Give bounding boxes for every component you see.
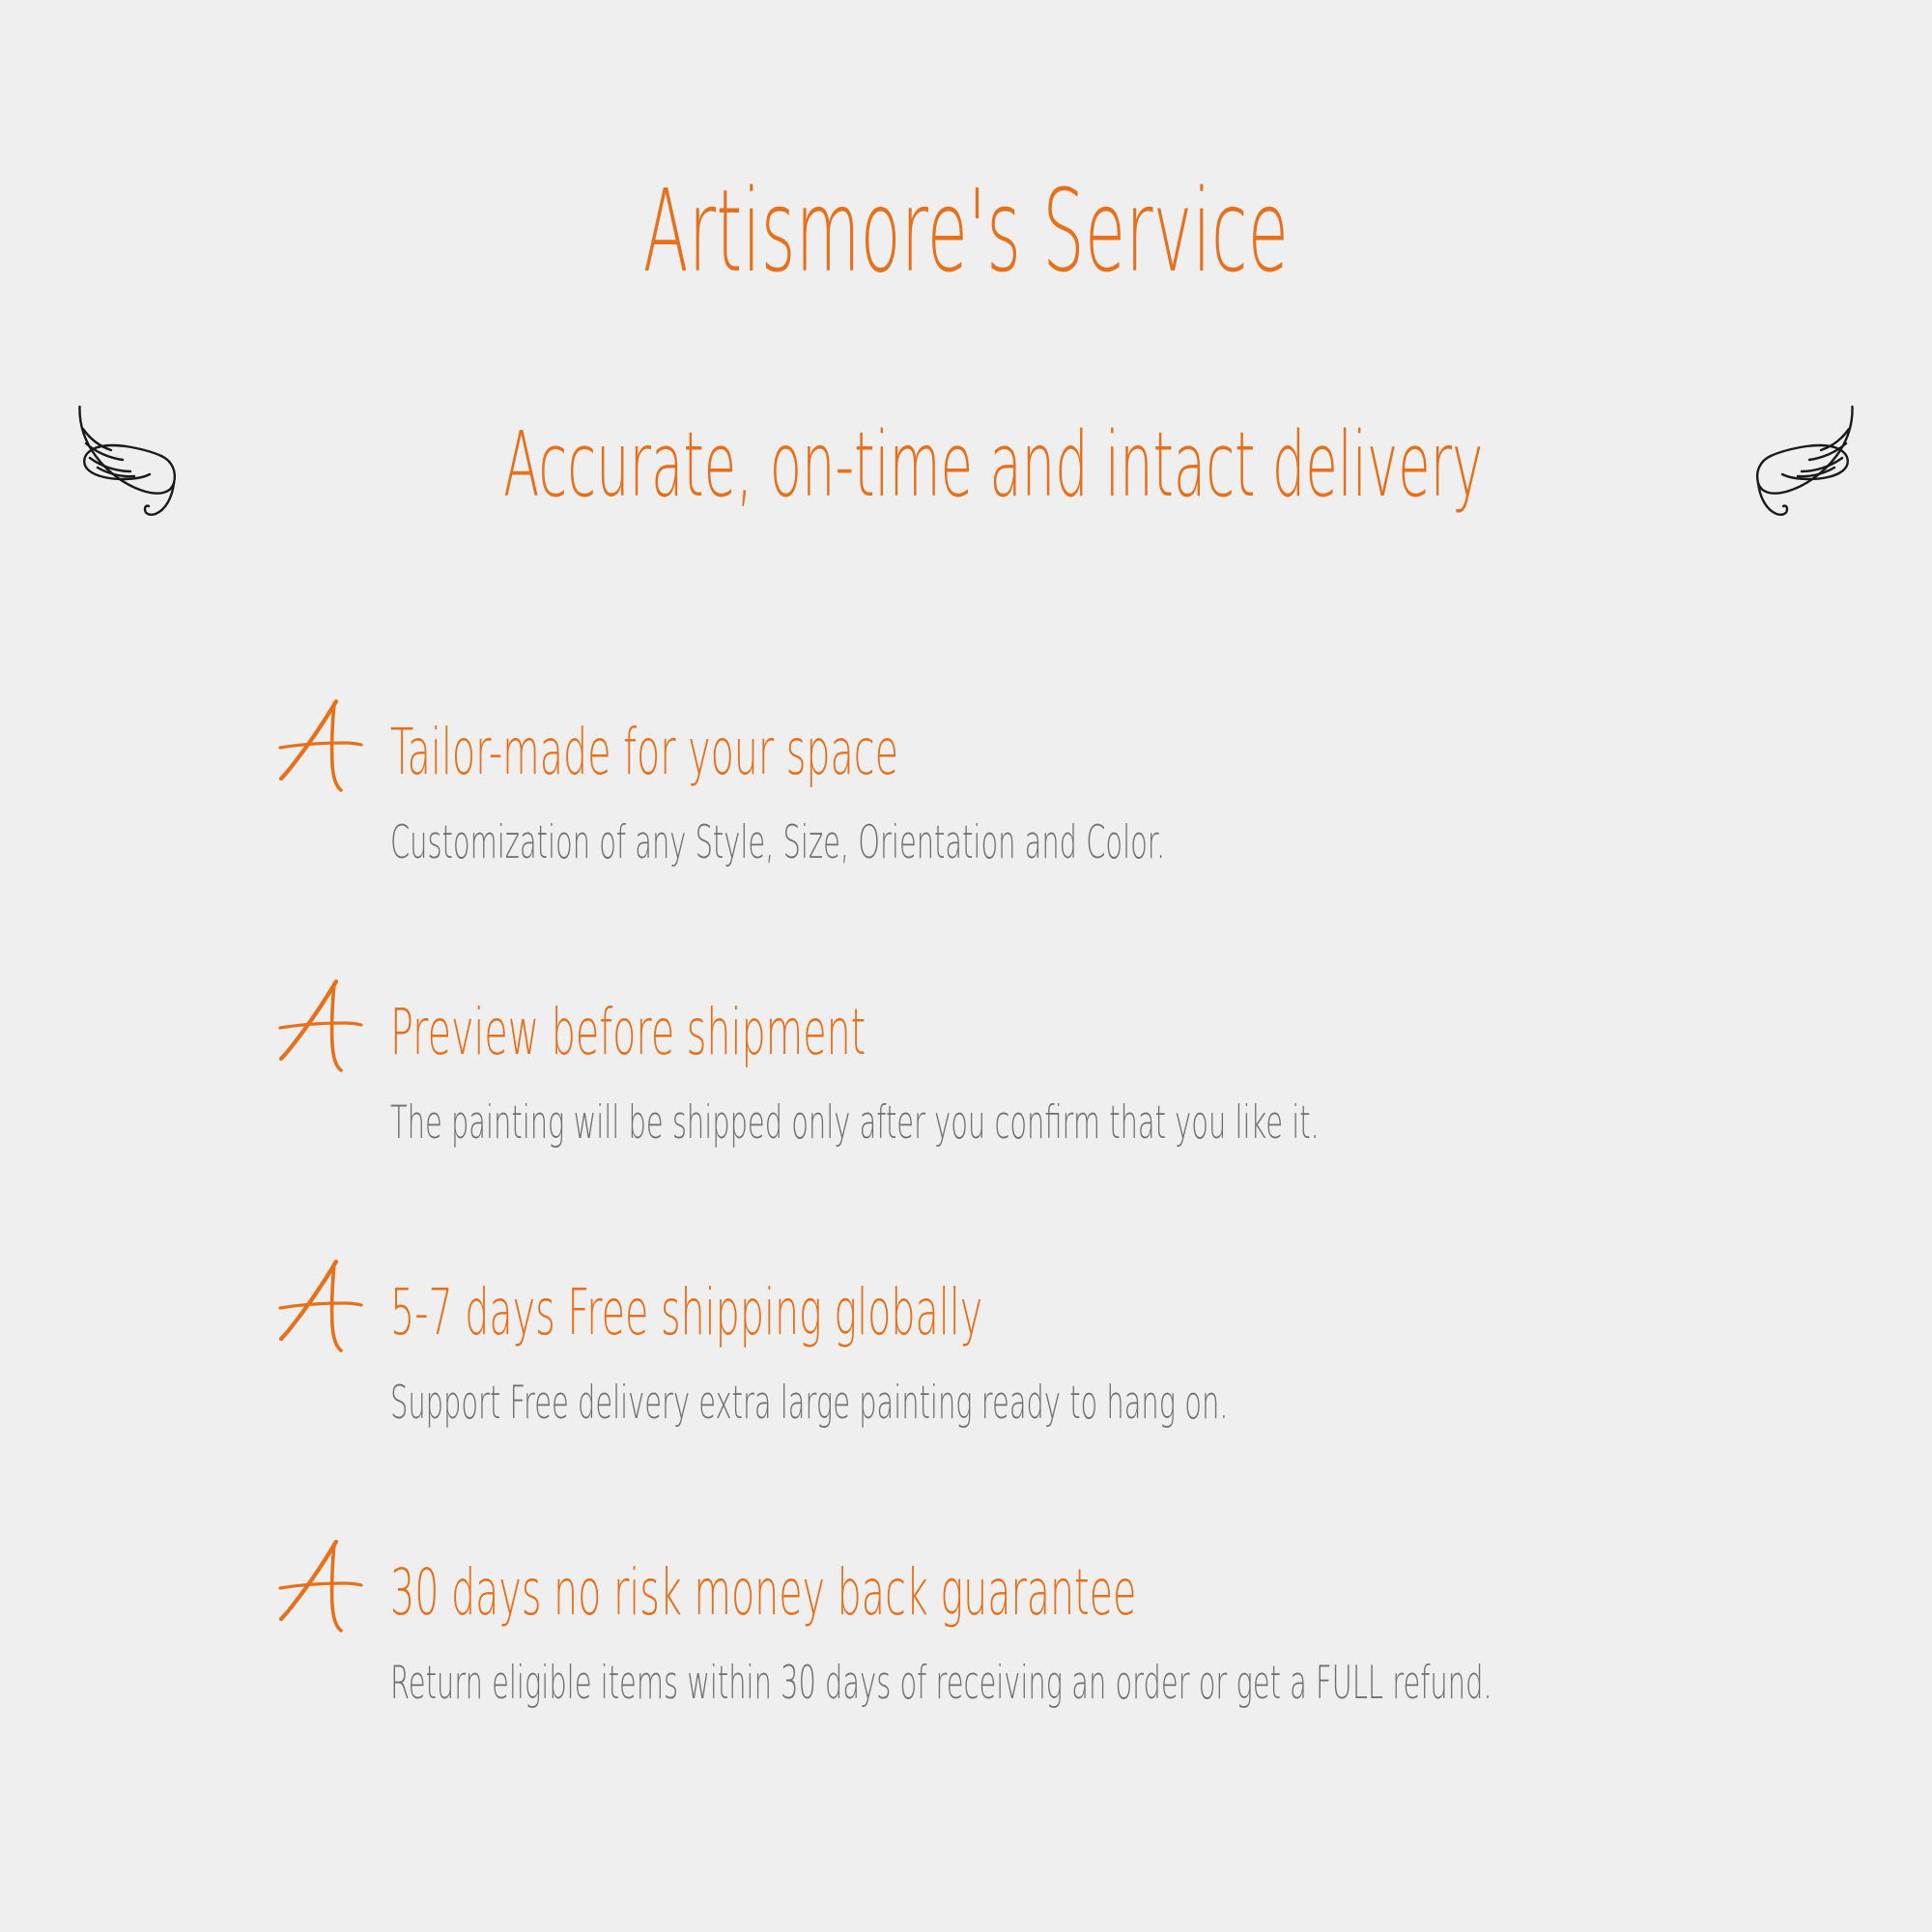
service-info-page: Artismore's Service (0, 0, 1932, 1932)
script-a-icon (276, 1538, 365, 1638)
feature-description: Customization of any Style, Size, Orient… (390, 819, 1165, 868)
feature-heading: Preview before shipment (390, 999, 866, 1065)
feature-description: Return eligible items within 30 days of … (390, 1660, 1492, 1709)
feature-heading: 5-7 days Free shipping globally (390, 1279, 982, 1346)
list-item: 30 days no risk money back guarantee Ret… (276, 1559, 1880, 1839)
feature-heading: Tailor-made for your space (390, 719, 898, 785)
script-a-icon (276, 697, 365, 798)
list-item: Tailor-made for your space Customization… (276, 719, 1880, 999)
feature-description: The painting will be shipped only after … (390, 1099, 1320, 1149)
banner: Accurate, on-time and intact delivery (0, 394, 1932, 529)
banner-text: Accurate, on-time and intact delivery (503, 418, 1413, 513)
script-a-icon (276, 978, 365, 1078)
page-title: Artismore's Service (406, 170, 1526, 293)
script-a-icon (276, 1258, 365, 1358)
wing-icon (71, 400, 179, 524)
feature-description: Support Free delivery extra large painti… (390, 1379, 1228, 1429)
wing-icon (1753, 400, 1861, 524)
feature-list: Tailor-made for your space Customization… (276, 719, 1880, 1839)
list-item: 5-7 days Free shipping globally Support … (276, 1279, 1880, 1559)
feature-heading: 30 days no risk money back guarantee (390, 1559, 1136, 1626)
list-item: Preview before shipment The painting wil… (276, 999, 1880, 1279)
